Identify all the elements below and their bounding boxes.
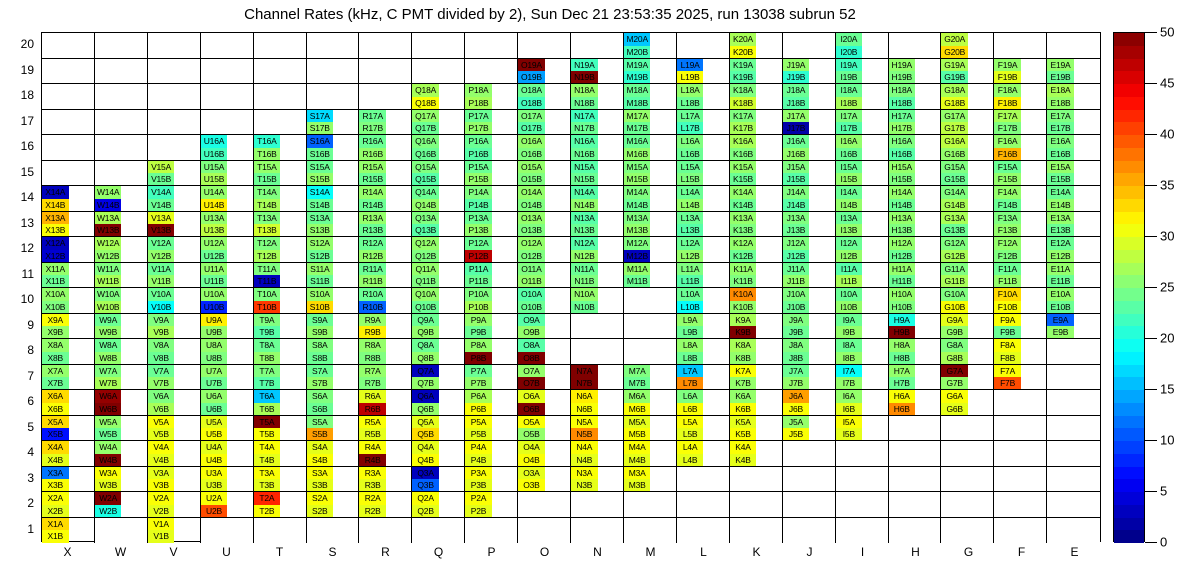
heatmap-grid[interactable]: M20AM20BM20CM20DK20AK20BK20CK20DI20AI20B… (41, 32, 1101, 542)
heatmap-cell-K7[interactable]: K7AK7BK7CK7D (730, 365, 783, 391)
heatmap-cell-V13[interactable]: V13AV13BV13CV13D (148, 212, 201, 238)
channel-S3A[interactable]: S3A (307, 467, 334, 480)
channel-H10B[interactable]: H10B (889, 301, 916, 314)
channel-K17A[interactable]: K17A (730, 110, 757, 123)
channel-M16B[interactable]: M16B (624, 148, 651, 161)
heatmap-cell-G5[interactable] (941, 416, 994, 442)
heatmap-cell-J7[interactable]: J7AJ7BJ7CJ7D (783, 365, 836, 391)
channel-K18A[interactable]: K18A (730, 84, 757, 97)
channel-N7A[interactable]: N7A (571, 365, 598, 378)
heatmap-cell-E13[interactable]: E13AE13BE13CE13D (1047, 212, 1100, 238)
heatmap-cell-M18[interactable]: M18AM18BM18CM18D (624, 84, 677, 110)
channel-P15A[interactable]: P15A (465, 161, 492, 174)
heatmap-cell-R9[interactable]: R9AR9BR9CR9D (359, 314, 412, 340)
heatmap-cell-K8[interactable]: K8AK8BK8CK8D (730, 339, 783, 365)
channel-I13B[interactable]: I13B (836, 224, 863, 237)
channel-V4B[interactable]: V4B (148, 454, 175, 467)
channel-R9A[interactable]: R9A (359, 314, 386, 327)
channel-J8B[interactable]: J8B (783, 352, 810, 365)
channel-I6A[interactable]: I6A (836, 390, 863, 403)
heatmap-cell-O6[interactable]: O6AO6BO6CO6D (518, 390, 571, 416)
heatmap-cell-U11[interactable]: U11AU11BU11CU11D (201, 263, 254, 289)
heatmap-cell-Q9[interactable]: Q9AQ9BQ9CQ9D (412, 314, 465, 340)
heatmap-cell-T15[interactable]: T15AT15BT15CT15D (254, 161, 307, 187)
channel-V6A[interactable]: V6A (148, 390, 175, 403)
channel-R3B[interactable]: R3B (359, 479, 386, 492)
heatmap-cell-I2[interactable] (836, 492, 889, 518)
heatmap-cell-P19[interactable] (465, 59, 518, 85)
heatmap-cell-W9[interactable]: W9AW9BW9CW9D (95, 314, 148, 340)
channel-E19A[interactable]: E19A (1047, 59, 1074, 72)
heatmap-cell-F11[interactable]: F11AF11BF11CF11D (994, 263, 1047, 289)
channel-P8B[interactable]: P8B (465, 352, 492, 365)
channel-H11B[interactable]: H11B (889, 275, 916, 288)
heatmap-cell-P18[interactable]: P18AP18BP18CP18D (465, 84, 518, 110)
channel-O13A[interactable]: O13A (518, 212, 545, 225)
channel-S9B[interactable]: S9B (307, 326, 334, 339)
channel-W10A[interactable]: W10A (95, 288, 122, 301)
heatmap-cell-X8[interactable]: X8AX8BX8CX8D (42, 339, 95, 365)
heatmap-cell-T4[interactable]: T4AT4BT4CT4D (254, 441, 307, 467)
channel-J8A[interactable]: J8A (783, 339, 810, 352)
channel-K20B[interactable]: K20B (730, 46, 757, 59)
heatmap-cell-E12[interactable]: E12AE12BE12CE12D (1047, 237, 1100, 263)
heatmap-cell-X16[interactable] (42, 135, 95, 161)
channel-S12A[interactable]: S12A (307, 237, 334, 250)
channel-O18B[interactable]: O18B (518, 97, 545, 110)
channel-W8A[interactable]: W8A (95, 339, 122, 352)
channel-O12A[interactable]: O12A (518, 237, 545, 250)
channel-S10B[interactable]: S10B (307, 301, 334, 314)
heatmap-cell-N13[interactable]: N13AN13BN13CN13D (571, 212, 624, 238)
heatmap-cell-U20[interactable] (201, 33, 254, 59)
channel-T12A[interactable]: T12A (254, 237, 281, 250)
heatmap-cell-E7[interactable] (1047, 365, 1100, 391)
channel-K17B[interactable]: K17B (730, 122, 757, 135)
heatmap-cell-N2[interactable] (571, 492, 624, 518)
channel-I7A[interactable]: I7A (836, 365, 863, 378)
channel-X11B[interactable]: X11B (42, 275, 69, 288)
heatmap-cell-M14[interactable]: M14AM14BM14CM14D (624, 186, 677, 212)
channel-V2B[interactable]: V2B (148, 505, 175, 518)
channel-E9B[interactable]: E9B (1047, 326, 1074, 339)
channel-X14A[interactable]: X14A (42, 186, 69, 199)
heatmap-cell-P14[interactable]: P14AP14BP14CP14D (465, 186, 518, 212)
channel-M12A[interactable]: M12A (624, 237, 651, 250)
channel-M3B[interactable]: M3B (624, 479, 651, 492)
channel-L19B[interactable]: L19B (677, 71, 704, 84)
channel-R7B[interactable]: R7B (359, 377, 386, 390)
channel-F18A[interactable]: F18A (994, 84, 1021, 97)
heatmap-cell-V11[interactable]: V11AV11BV11CV11D (148, 263, 201, 289)
channel-W10B[interactable]: W10B (95, 301, 122, 314)
channel-V15B[interactable]: V15B (148, 173, 175, 186)
channel-E11A[interactable]: E11A (1047, 263, 1074, 276)
heatmap-cell-I15[interactable]: I15AI15BI15CI15D (836, 161, 889, 187)
channel-P11A[interactable]: P11A (465, 263, 492, 276)
heatmap-cell-H1[interactable] (889, 518, 942, 544)
channel-N17B[interactable]: N17B (571, 122, 598, 135)
channel-T5B[interactable]: T5B (254, 428, 281, 441)
channel-N19B[interactable]: N19B (571, 71, 598, 84)
heatmap-cell-L9[interactable]: L9AL9BL9CL9D (677, 314, 730, 340)
heatmap-cell-V6[interactable]: V6AV6BV6CV6D (148, 390, 201, 416)
heatmap-cell-I8[interactable]: I8AI8BI8CI8D (836, 339, 889, 365)
heatmap-cell-T3[interactable]: T3AT3BT3CT3D (254, 467, 307, 493)
channel-E16B[interactable]: E16B (1047, 148, 1074, 161)
channel-J5B[interactable]: J5B (783, 428, 810, 441)
channel-V14A[interactable]: V14A (148, 186, 175, 199)
channel-E17A[interactable]: E17A (1047, 110, 1074, 123)
heatmap-cell-I9[interactable]: I9AI9BI9CI9D (836, 314, 889, 340)
channel-H15B[interactable]: H15B (889, 173, 916, 186)
channel-F8B[interactable]: F8B (994, 352, 1021, 365)
heatmap-cell-Q5[interactable]: Q5AQ5BQ5CQ5D (412, 416, 465, 442)
heatmap-cell-M4[interactable]: M4AM4BM4CM4D (624, 441, 677, 467)
heatmap-cell-N10[interactable]: N10AN10BN10CN10D (571, 288, 624, 314)
channel-O16B[interactable]: O16B (518, 148, 545, 161)
heatmap-cell-W1[interactable] (95, 518, 148, 544)
heatmap-cell-P3[interactable]: P3AP3BP3CP3D (465, 467, 518, 493)
channel-O7A[interactable]: O7A (518, 365, 545, 378)
heatmap-cell-J6[interactable]: J6AJ6BJ6CJ6D (783, 390, 836, 416)
heatmap-cell-E2[interactable] (1047, 492, 1100, 518)
channel-I11A[interactable]: I11A (836, 263, 863, 276)
heatmap-cell-U7[interactable]: U7AU7BU7CU7D (201, 365, 254, 391)
heatmap-cell-M10[interactable] (624, 288, 677, 314)
channel-F9B[interactable]: F9B (994, 326, 1021, 339)
heatmap-cell-I16[interactable]: I16AI16BI16CI16D (836, 135, 889, 161)
heatmap-cell-N16[interactable]: N16AN16BN16CN16D (571, 135, 624, 161)
heatmap-cell-W12[interactable]: W12AW12BW12CW12D (95, 237, 148, 263)
heatmap-cell-M7[interactable]: M7AM7BM7CM7D (624, 365, 677, 391)
channel-N15B[interactable]: N15B (571, 173, 598, 186)
channel-Q8B[interactable]: Q8B (412, 352, 439, 365)
heatmap-cell-G1[interactable] (941, 518, 994, 544)
heatmap-cell-Q6[interactable]: Q6AQ6BQ6CQ6D (412, 390, 465, 416)
channel-E13B[interactable]: E13B (1047, 224, 1074, 237)
channel-S7A[interactable]: S7A (307, 365, 334, 378)
channel-K19A[interactable]: K19A (730, 59, 757, 72)
heatmap-cell-F17[interactable]: F17AF17BF17CF17D (994, 110, 1047, 136)
channel-T6A[interactable]: T6A (254, 390, 281, 403)
channel-N4A[interactable]: N4A (571, 441, 598, 454)
heatmap-cell-W19[interactable] (95, 59, 148, 85)
heatmap-cell-R11[interactable]: R11AR11BR11CR11D (359, 263, 412, 289)
channel-Q12B[interactable]: Q12B (412, 250, 439, 263)
channel-H14A[interactable]: H14A (889, 186, 916, 199)
heatmap-cell-H18[interactable]: H18AH18BH18CH18D (889, 84, 942, 110)
channel-K11A[interactable]: K11A (730, 263, 757, 276)
channel-W6A[interactable]: W6A (95, 390, 122, 403)
channel-H12B[interactable]: H12B (889, 250, 916, 263)
channel-F15B[interactable]: F15B (994, 173, 1021, 186)
channel-M19A[interactable]: M19A (624, 59, 651, 72)
channel-J6A[interactable]: J6A (783, 390, 810, 403)
channel-R10A[interactable]: R10A (359, 288, 386, 301)
heatmap-cell-O14[interactable]: O14AO14BO14CO14D (518, 186, 571, 212)
heatmap-cell-R16[interactable]: R16AR16BR16CR16D (359, 135, 412, 161)
channel-L14B[interactable]: L14B (677, 199, 704, 212)
channel-X14B[interactable]: X14B (42, 199, 69, 212)
channel-E18A[interactable]: E18A (1047, 84, 1074, 97)
heatmap-cell-F7[interactable]: F7AF7BF7CF7D (994, 365, 1047, 391)
channel-X5B[interactable]: X5B (42, 428, 69, 441)
heatmap-cell-J17[interactable]: J17AJ17BJ17CJ17D (783, 110, 836, 136)
heatmap-cell-H13[interactable]: H13AH13BH13CH13D (889, 212, 942, 238)
channel-P5B[interactable]: P5B (465, 428, 492, 441)
heatmap-cell-Q4[interactable]: Q4AQ4BQ4CQ4D (412, 441, 465, 467)
heatmap-cell-H12[interactable]: H12AH12BH12CH12D (889, 237, 942, 263)
heatmap-cell-G6[interactable]: G6AG6BG6CG6D (941, 390, 994, 416)
channel-T3B[interactable]: T3B (254, 479, 281, 492)
heatmap-cell-L4[interactable]: L4AL4BL4CL4D (677, 441, 730, 467)
channel-R10B[interactable]: R10B (359, 301, 386, 314)
channel-O14A[interactable]: O14A (518, 186, 545, 199)
channel-S8B[interactable]: S8B (307, 352, 334, 365)
channel-V15A[interactable]: V15A (148, 161, 175, 174)
channel-X8A[interactable]: X8A (42, 339, 69, 352)
channel-J14B[interactable]: J14B (783, 199, 810, 212)
channel-G16B[interactable]: G16B (941, 148, 968, 161)
channel-H7A[interactable]: H7A (889, 365, 916, 378)
channel-Q16A[interactable]: Q16A (412, 135, 439, 148)
heatmap-cell-W17[interactable] (95, 110, 148, 136)
heatmap-cell-V15[interactable]: V15AV15BV15CV15D (148, 161, 201, 187)
channel-I20B[interactable]: I20B (836, 46, 863, 59)
heatmap-cell-F9[interactable]: F9AF9BF9CF9D (994, 314, 1047, 340)
heatmap-cell-L13[interactable]: L13AL13BL13CL13D (677, 212, 730, 238)
heatmap-cell-I4[interactable] (836, 441, 889, 467)
heatmap-cell-I18[interactable]: I18AI18BI18CI18D (836, 84, 889, 110)
heatmap-cell-K11[interactable]: K11AK11BK11CK11D (730, 263, 783, 289)
channel-U15A[interactable]: U15A (201, 161, 228, 174)
heatmap-cell-X1[interactable]: X1AX1BX1CX1D (42, 518, 95, 544)
channel-N12B[interactable]: N12B (571, 250, 598, 263)
channel-Q2A[interactable]: Q2A (412, 492, 439, 505)
heatmap-cell-X11[interactable]: X11AX11BX11CX11D (42, 263, 95, 289)
channel-W4B[interactable]: W4B (95, 454, 122, 467)
channel-M20B[interactable]: M20B (624, 46, 651, 59)
channel-I6B[interactable]: I6B (836, 403, 863, 416)
heatmap-cell-S16[interactable]: S16AS16BS16CS16D (307, 135, 360, 161)
channel-T15B[interactable]: T15B (254, 173, 281, 186)
channel-O10A[interactable]: O10A (518, 288, 545, 301)
channel-W3A[interactable]: W3A (95, 467, 122, 480)
channel-T2A[interactable]: T2A (254, 492, 281, 505)
channel-R11A[interactable]: R11A (359, 263, 386, 276)
channel-E16A[interactable]: E16A (1047, 135, 1074, 148)
channel-V3B[interactable]: V3B (148, 479, 175, 492)
channel-I5B[interactable]: I5B (836, 428, 863, 441)
channel-Q2B[interactable]: Q2B (412, 505, 439, 518)
channel-T15A[interactable]: T15A (254, 161, 281, 174)
channel-O8B[interactable]: O8B (518, 352, 545, 365)
channel-F10B[interactable]: F10B (994, 301, 1021, 314)
channel-K20A[interactable]: K20A (730, 33, 757, 46)
channel-S6B[interactable]: S6B (307, 403, 334, 416)
heatmap-cell-V16[interactable] (148, 135, 201, 161)
heatmap-cell-R7[interactable]: R7AR7BR7CR7D (359, 365, 412, 391)
heatmap-cell-T8[interactable]: T8AT8BT8CT8D (254, 339, 307, 365)
channel-G14B[interactable]: G14B (941, 199, 968, 212)
channel-N13B[interactable]: N13B (571, 224, 598, 237)
channel-S15A[interactable]: S15A (307, 161, 334, 174)
heatmap-cell-R3[interactable]: R3AR3BR3CR3D (359, 467, 412, 493)
heatmap-cell-L7[interactable]: L7AL7BL7CL7D (677, 365, 730, 391)
heatmap-cell-W7[interactable]: W7AW7BW7CW7D (95, 365, 148, 391)
channel-I14B[interactable]: I14B (836, 199, 863, 212)
heatmap-cell-H15[interactable]: H15AH15BH15CH15D (889, 161, 942, 187)
channel-G13A[interactable]: G13A (941, 212, 968, 225)
channel-L10B[interactable]: L10B (677, 301, 704, 314)
heatmap-cell-O8[interactable]: O8AO8BO8CO8D (518, 339, 571, 365)
heatmap-cell-P6[interactable]: P6AP6BP6CP6D (465, 390, 518, 416)
channel-P7B[interactable]: P7B (465, 377, 492, 390)
heatmap-cell-H8[interactable]: H8AH8BH8CH8D (889, 339, 942, 365)
channel-W13B[interactable]: W13B (95, 224, 122, 237)
channel-G8A[interactable]: G8A (941, 339, 968, 352)
heatmap-cell-Q2[interactable]: Q2AQ2BQ2CQ2D (412, 492, 465, 518)
channel-L10A[interactable]: L10A (677, 288, 704, 301)
channel-I10A[interactable]: I10A (836, 288, 863, 301)
channel-G19B[interactable]: G19B (941, 71, 968, 84)
heatmap-cell-J14[interactable]: J14AJ14BJ14CJ14D (783, 186, 836, 212)
channel-F8A[interactable]: F8A (994, 339, 1021, 352)
heatmap-cell-M8[interactable] (624, 339, 677, 365)
heatmap-cell-O1[interactable] (518, 518, 571, 544)
channel-L8A[interactable]: L8A (677, 339, 704, 352)
channel-F9A[interactable]: F9A (994, 314, 1021, 327)
channel-M13A[interactable]: M13A (624, 212, 651, 225)
heatmap-cell-U5[interactable]: U5AU5BU5CU5D (201, 416, 254, 442)
channel-N10A[interactable]: N10A (571, 288, 598, 301)
channel-U5A[interactable]: U5A (201, 416, 228, 429)
channel-R16B[interactable]: R16B (359, 148, 386, 161)
channel-Q10A[interactable]: Q10A (412, 288, 439, 301)
heatmap-cell-J10[interactable]: J10AJ10BJ10CJ10D (783, 288, 836, 314)
heatmap-cell-H19[interactable]: H19AH19BH19CH19D (889, 59, 942, 85)
heatmap-cell-M19[interactable]: M19AM19BM19CM19D (624, 59, 677, 85)
channel-V7A[interactable]: V7A (148, 365, 175, 378)
channel-N7B[interactable]: N7B (571, 377, 598, 390)
channel-H19A[interactable]: H19A (889, 59, 916, 72)
heatmap-cell-U9[interactable]: U9AU9BU9CU9D (201, 314, 254, 340)
channel-J10A[interactable]: J10A (783, 288, 810, 301)
channel-V13B[interactable]: V13B (148, 224, 175, 237)
heatmap-cell-Q18[interactable]: Q18AQ18BQ18CQ18D (412, 84, 465, 110)
channel-M11B[interactable]: M11B (624, 275, 651, 288)
channel-K4A[interactable]: K4A (730, 441, 757, 454)
channel-W11A[interactable]: W11A (95, 263, 122, 276)
channel-L6B[interactable]: L6B (677, 403, 704, 416)
heatmap-cell-E11[interactable]: E11AE11BE11CE11D (1047, 263, 1100, 289)
channel-K8B[interactable]: K8B (730, 352, 757, 365)
channel-F16A[interactable]: F16A (994, 135, 1021, 148)
channel-Q17B[interactable]: Q17B (412, 122, 439, 135)
channel-E19B[interactable]: E19B (1047, 71, 1074, 84)
heatmap-cell-W14[interactable]: W14AW14BW14CW14D (95, 186, 148, 212)
heatmap-cell-S5[interactable]: S5AS5BS5CS5D (307, 416, 360, 442)
heatmap-cell-U1[interactable] (201, 518, 254, 544)
channel-S12B[interactable]: S12B (307, 250, 334, 263)
channel-I14A[interactable]: I14A (836, 186, 863, 199)
channel-Q14A[interactable]: Q14A (412, 186, 439, 199)
channel-U7A[interactable]: U7A (201, 365, 228, 378)
channel-L5A[interactable]: L5A (677, 416, 704, 429)
channel-U4A[interactable]: U4A (201, 441, 228, 454)
heatmap-cell-H7[interactable]: H7AH7BH7CH7D (889, 365, 942, 391)
heatmap-cell-P7[interactable]: P7AP7BP7CP7D (465, 365, 518, 391)
heatmap-cell-I5[interactable]: I5AI5BI5CI5D (836, 416, 889, 442)
heatmap-cell-V7[interactable]: V7AV7BV7CV7D (148, 365, 201, 391)
heatmap-cell-P9[interactable]: P9AP9BP9CP9D (465, 314, 518, 340)
channel-R14B[interactable]: R14B (359, 199, 386, 212)
heatmap-cell-W2[interactable]: W2AW2BW2CW2D (95, 492, 148, 518)
channel-U16A[interactable]: U16A (201, 135, 228, 148)
channel-U10B[interactable]: U10B (201, 301, 228, 314)
heatmap-cell-P17[interactable]: P17AP17BP17CP17D (465, 110, 518, 136)
heatmap-cell-J8[interactable]: J8AJ8BJ8CJ8D (783, 339, 836, 365)
channel-M17A[interactable]: M17A (624, 110, 651, 123)
heatmap-cell-Q13[interactable]: Q13AQ13BQ13CQ13D (412, 212, 465, 238)
heatmap-cell-W3[interactable]: W3AW3BW3CW3D (95, 467, 148, 493)
heatmap-cell-X14[interactable]: X14AX14BX14CX14D (42, 186, 95, 212)
heatmap-cell-U6[interactable]: U6AU6BU6CU6D (201, 390, 254, 416)
channel-G9B[interactable]: G9B (941, 326, 968, 339)
heatmap-cell-O12[interactable]: O12AO12BO12CO12D (518, 237, 571, 263)
heatmap-cell-I10[interactable]: I10AI10BI10CI10D (836, 288, 889, 314)
channel-S5A[interactable]: S5A (307, 416, 334, 429)
channel-S17B[interactable]: S17B (307, 122, 334, 135)
heatmap-cell-V3[interactable]: V3AV3BV3CV3D (148, 467, 201, 493)
channel-L18A[interactable]: L18A (677, 84, 704, 97)
channel-V1B[interactable]: V1B (148, 530, 175, 543)
channel-N16A[interactable]: N16A (571, 135, 598, 148)
heatmap-cell-E1[interactable] (1047, 518, 1100, 544)
channel-X1A[interactable]: X1A (42, 518, 69, 531)
channel-J16B[interactable]: J16B (783, 148, 810, 161)
channel-G8B[interactable]: G8B (941, 352, 968, 365)
heatmap-cell-O7[interactable]: O7AO7BO7CO7D (518, 365, 571, 391)
channel-K16B[interactable]: K16B (730, 148, 757, 161)
channel-N19A[interactable]: N19A (571, 59, 598, 72)
channel-O19B[interactable]: O19B (518, 71, 545, 84)
heatmap-cell-R4[interactable]: R4AR4BR4CR4D (359, 441, 412, 467)
channel-J11A[interactable]: J11A (783, 263, 810, 276)
heatmap-cell-X13[interactable]: X13AX13BX13CX13D (42, 212, 95, 238)
heatmap-cell-E18[interactable]: E18AE18BE18CE18D (1047, 84, 1100, 110)
channel-W7A[interactable]: W7A (95, 365, 122, 378)
channel-K11B[interactable]: K11B (730, 275, 757, 288)
channel-S9A[interactable]: S9A (307, 314, 334, 327)
heatmap-cell-F3[interactable] (994, 467, 1047, 493)
channel-E10B[interactable]: E10B (1047, 301, 1074, 314)
heatmap-cell-U4[interactable]: U4AU4BU4CU4D (201, 441, 254, 467)
heatmap-cell-M9[interactable] (624, 314, 677, 340)
heatmap-cell-I20[interactable]: I20AI20BI20CI20D (836, 33, 889, 59)
channel-I8B[interactable]: I8B (836, 352, 863, 365)
channel-M15A[interactable]: M15A (624, 161, 651, 174)
heatmap-cell-G20[interactable]: G20AG20BG20CG20D (941, 33, 994, 59)
channel-K9B[interactable]: K9B (730, 326, 757, 339)
heatmap-cell-K5[interactable]: K5AK5BK5CK5D (730, 416, 783, 442)
channel-K12A[interactable]: K12A (730, 237, 757, 250)
channel-R8A[interactable]: R8A (359, 339, 386, 352)
heatmap-cell-X2[interactable]: X2AX2BX2CX2D (42, 492, 95, 518)
heatmap-cell-S18[interactable] (307, 84, 360, 110)
heatmap-cell-H5[interactable] (889, 416, 942, 442)
